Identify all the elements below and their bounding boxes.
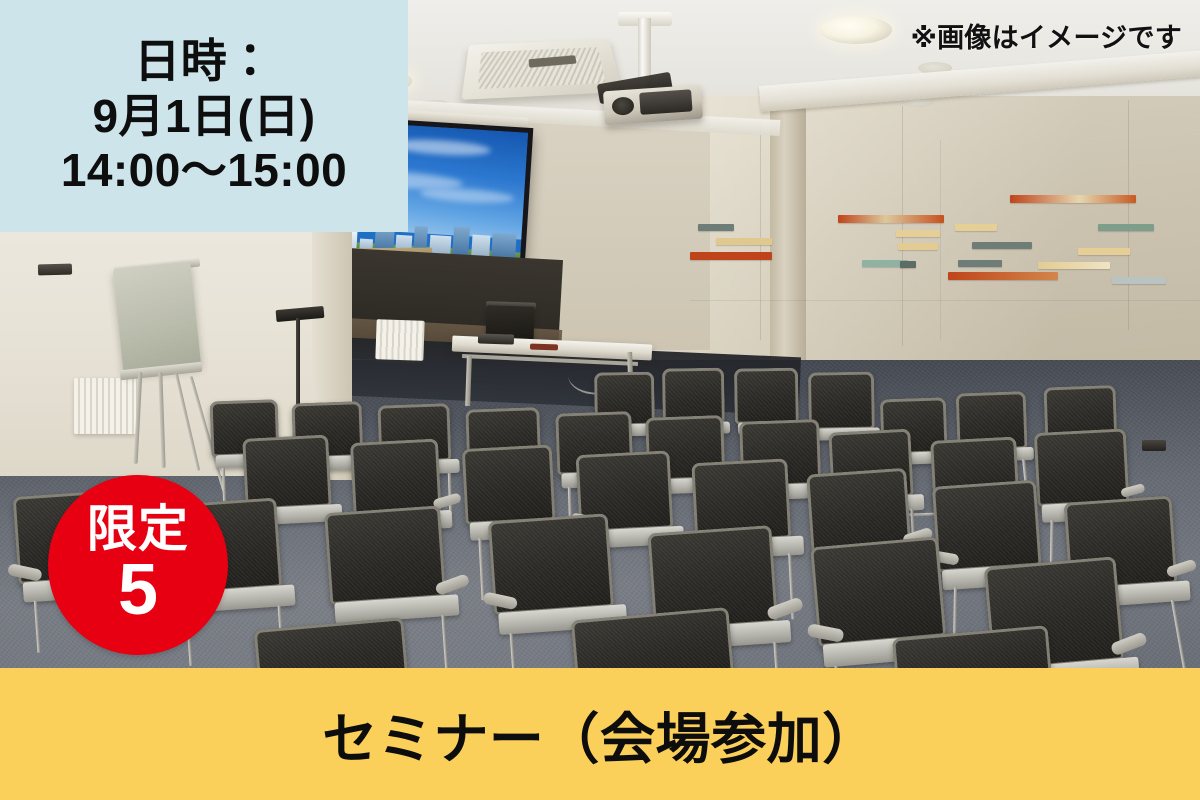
date-panel-date: 9月1日(日) (92, 90, 315, 142)
wall-socket-plate (38, 264, 72, 276)
wall-seam (760, 120, 761, 340)
wall-art-strip (972, 242, 1032, 249)
wall-art-strip (690, 252, 772, 260)
wall-art-strip (955, 224, 997, 231)
radiator (74, 378, 136, 434)
wall-art-strip (948, 272, 1058, 280)
laptop (478, 333, 514, 344)
ceiling-downlight (820, 16, 892, 44)
wall-seam (902, 106, 903, 346)
limit-badge-count: 5 (118, 556, 158, 625)
flipchart-board (113, 262, 201, 374)
wall-art-strip (898, 243, 938, 250)
ceiling-projector (603, 85, 703, 126)
wall-art-strip (1010, 195, 1136, 203)
wall-art-strip (716, 238, 772, 245)
wall-art-strip (1112, 277, 1166, 284)
bottom-title-bar: セミナー（会場参加） (0, 668, 1200, 800)
seminar-banner: 日時： 9月1日(日) 14:00〜15:00 ※画像はイメージです 限定 5 … (0, 0, 1200, 800)
date-time-panel: 日時： 9月1日(日) 14:00〜15:00 (0, 0, 408, 232)
microphone-stand (296, 318, 300, 412)
ac-grille (478, 47, 606, 89)
desk-item (530, 344, 558, 351)
projector-housing (639, 89, 692, 115)
projector-lens (611, 96, 634, 115)
wall-art-strip (1078, 248, 1130, 255)
seminar-title: セミナー（会場参加） (322, 694, 878, 774)
wall-art-strip (958, 260, 1002, 267)
image-is-illustrative-notice: ※画像はイメージです (911, 16, 1182, 55)
date-panel-time: 14:00〜15:00 (61, 144, 347, 196)
wall-seam (940, 140, 941, 340)
wall-art-strip (1098, 224, 1154, 231)
wall-art-strip (896, 230, 940, 237)
wall-seam (1128, 100, 1129, 330)
wall-art-strip (1038, 262, 1110, 269)
wall-art-strip (698, 224, 734, 231)
wall-art-strip (900, 261, 916, 268)
wall-seam (690, 300, 1200, 301)
limit-badge-word: 限定 (87, 504, 189, 554)
radiator (375, 319, 424, 361)
date-panel-label: 日時： (134, 35, 273, 87)
wall-art-strip (838, 215, 944, 223)
wall-socket-plate (1142, 440, 1166, 451)
limit-badge: 限定 5 (48, 475, 228, 655)
